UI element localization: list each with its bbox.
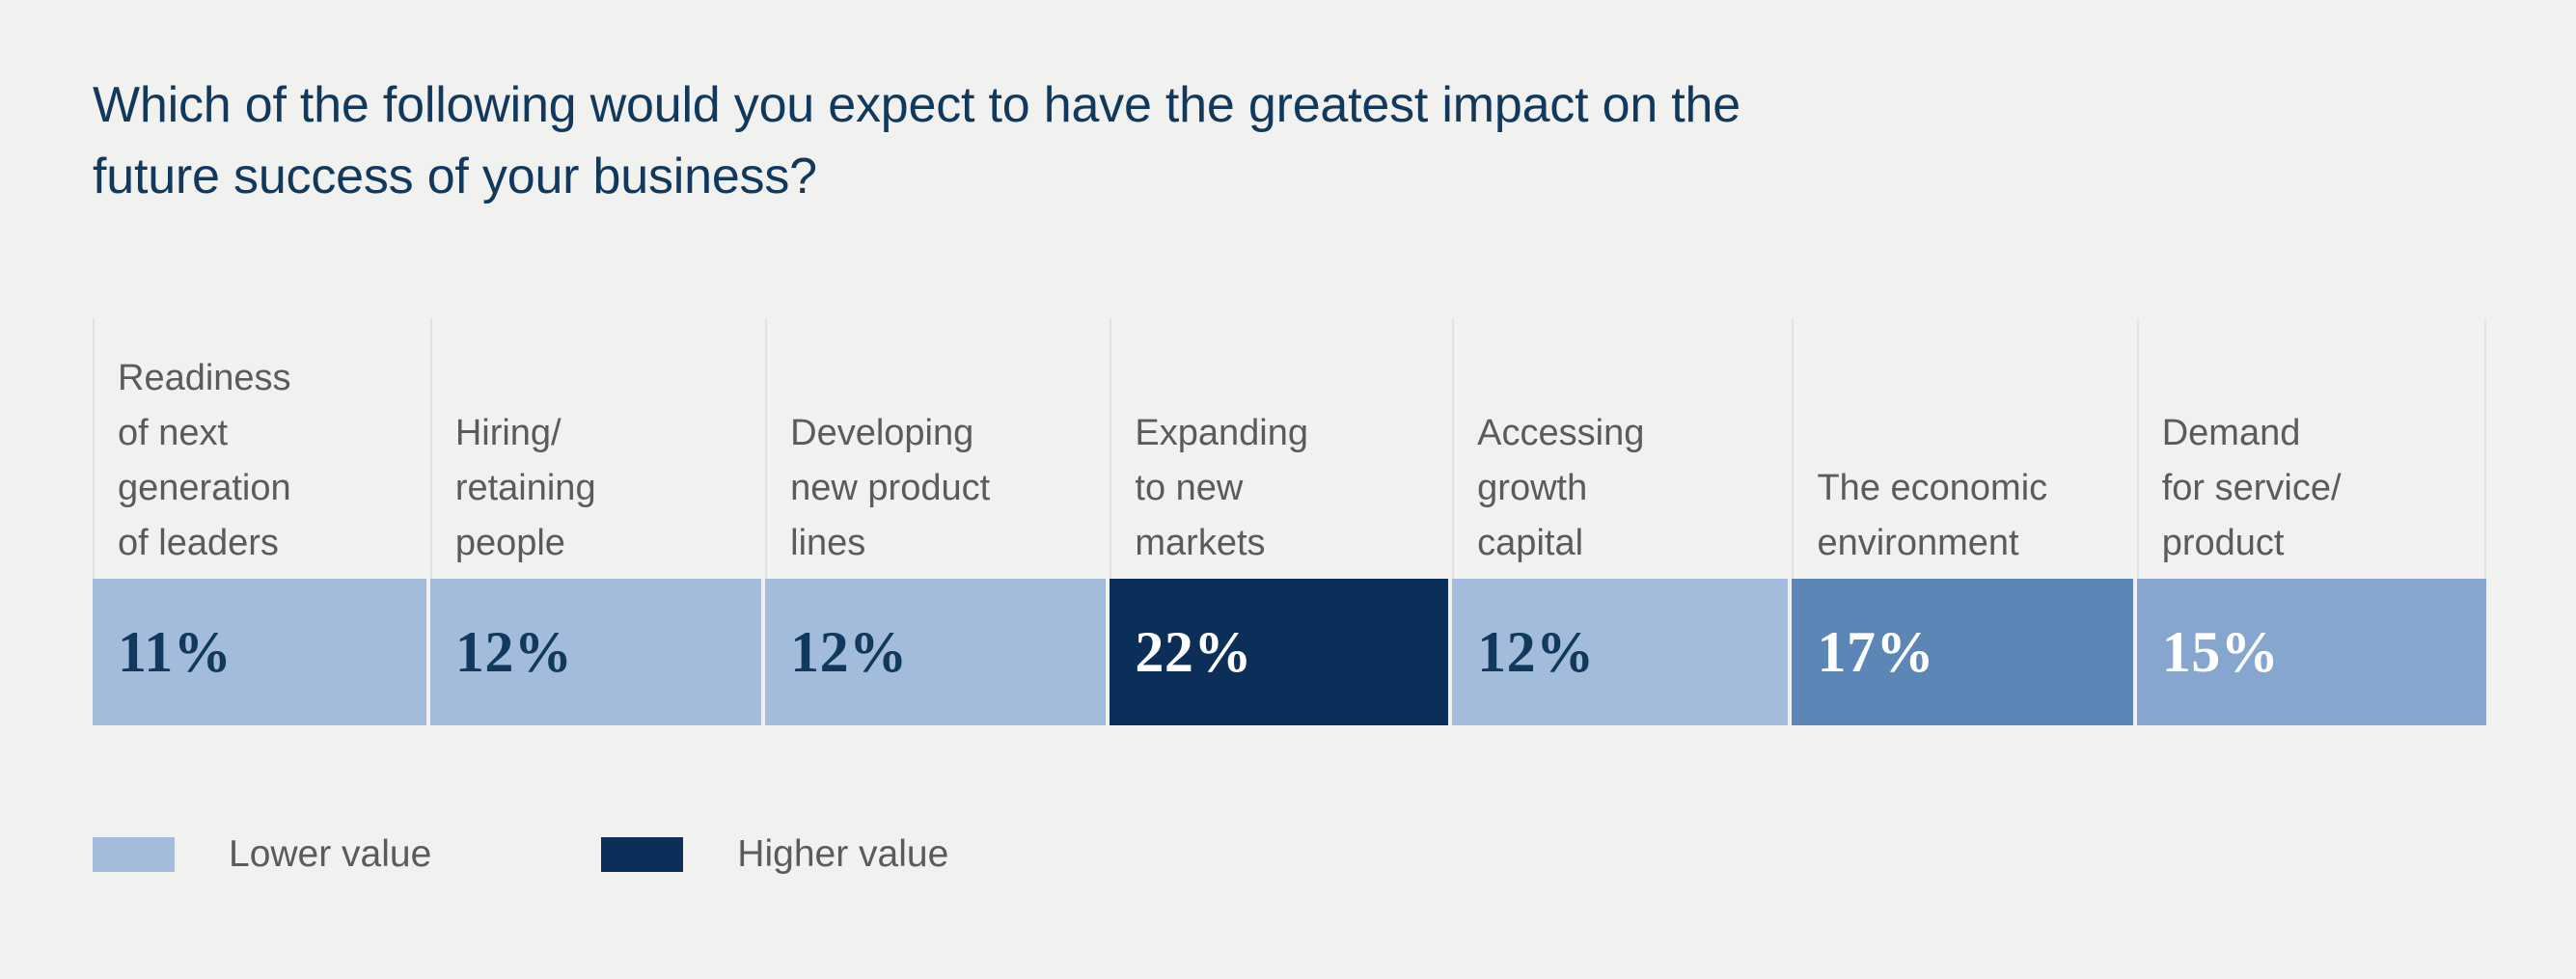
value-cell: 15%	[2137, 579, 2486, 725]
value-label: 15%	[2162, 623, 2280, 681]
category-label-line: Readiness	[118, 351, 417, 406]
category-label-cell: Expandingto newmarkets	[1110, 318, 1452, 579]
category-label-cell: Accessinggrowthcapital	[1452, 318, 1792, 579]
category-label-cell: The economicenvironment	[1792, 318, 2136, 579]
category-label-line: people	[455, 516, 752, 571]
chart-column: The economicenvironment17%	[1792, 318, 2136, 725]
category-label-line: of next	[118, 406, 417, 461]
chart-column: Readinessof nextgenerationof leaders11%	[93, 318, 430, 725]
category-label-line: for service/	[2162, 461, 2471, 516]
chart-column: Hiring/retainingpeople12%	[430, 318, 765, 725]
legend-swatch-higher-value	[601, 837, 683, 872]
legend-item-lower-value: Lower value	[93, 835, 431, 873]
category-label-line: markets	[1135, 516, 1439, 571]
category-label-line: Demand	[2162, 406, 2471, 461]
page-title: Which of the following would you expect …	[93, 69, 2119, 212]
category-label-line: product	[2162, 516, 2471, 571]
page-title-line-2: future success of your business?	[93, 141, 2119, 212]
category-label-line: retaining	[455, 461, 752, 516]
page-title-line-1: Which of the following would you expect …	[93, 69, 2119, 141]
category-label-cell: Hiring/retainingpeople	[430, 318, 765, 579]
chart-column: Expandingto newmarkets22%	[1110, 318, 1452, 725]
category-label-line: Accessing	[1477, 406, 1778, 461]
category-value-chart: Readinessof nextgenerationof leaders11%H…	[93, 318, 2486, 725]
legend-label-lower-value: Lower value	[229, 835, 431, 873]
category-label-cell: Developingnew productlines	[765, 318, 1110, 579]
chart-column: Developingnew productlines12%	[765, 318, 1110, 725]
value-cell: 11%	[93, 579, 426, 725]
category-label-line: Expanding	[1135, 406, 1439, 461]
value-label: 12%	[790, 623, 908, 681]
value-cell: 12%	[430, 579, 761, 725]
category-label-cell: Demandfor service/product	[2137, 318, 2486, 579]
value-label: 22%	[1135, 623, 1252, 681]
value-cell: 12%	[765, 579, 1106, 725]
category-label-line: to new	[1135, 461, 1439, 516]
category-label-line: of leaders	[118, 516, 417, 571]
legend-label-higher-value: Higher value	[737, 835, 948, 873]
category-label-line: Hiring/	[455, 406, 752, 461]
value-label: 12%	[455, 623, 573, 681]
category-label-line: new product	[790, 461, 1096, 516]
category-label-line: environment	[1817, 516, 2123, 571]
chart-page: Which of the following would you expect …	[0, 0, 2576, 979]
category-label-line: growth	[1477, 461, 1778, 516]
value-label: 17%	[1817, 623, 1934, 681]
value-cell: 12%	[1452, 579, 1788, 725]
chart-legend: Lower value Higher value	[93, 835, 948, 873]
legend-item-higher-value: Higher value	[601, 835, 948, 873]
category-label-line: lines	[790, 516, 1096, 571]
legend-swatch-lower-value	[93, 837, 175, 872]
category-label-line: The economic	[1817, 461, 2123, 516]
value-label: 12%	[1477, 623, 1595, 681]
value-cell: 17%	[1792, 579, 2132, 725]
category-label-line: Developing	[790, 406, 1096, 461]
chart-column: Accessinggrowthcapital12%	[1452, 318, 1792, 725]
category-label-line: generation	[118, 461, 417, 516]
value-label: 11%	[118, 623, 232, 681]
chart-column: Demandfor service/product15%	[2137, 318, 2486, 725]
category-label-cell: Readinessof nextgenerationof leaders	[93, 318, 430, 579]
category-label-line: capital	[1477, 516, 1778, 571]
value-cell: 22%	[1110, 579, 1448, 725]
chart-columns: Readinessof nextgenerationof leaders11%H…	[93, 318, 2486, 725]
